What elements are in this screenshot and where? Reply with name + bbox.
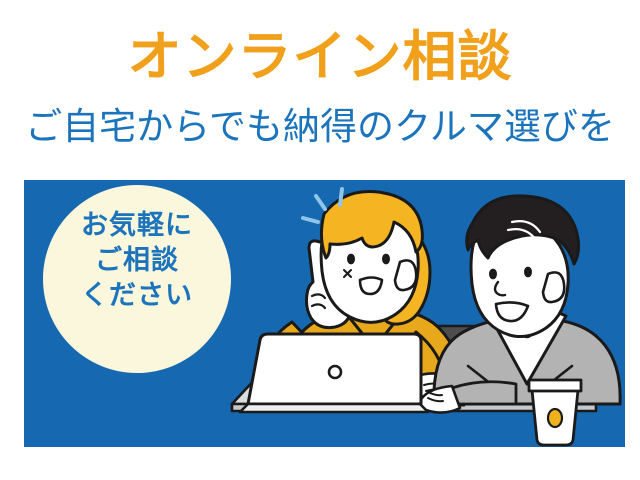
laptop-logo-icon: [329, 366, 341, 378]
man-eye-right: [524, 267, 532, 278]
laptop-icon: [240, 334, 428, 412]
badge-circle: [43, 185, 231, 373]
coffee-cup-icon: [529, 380, 581, 445]
banner-image: オンライン相談 ご自宅からでも納得のクルマ選びを: [0, 0, 640, 480]
man-eye-left: [489, 269, 497, 280]
woman-eye-right: [382, 254, 390, 265]
coffee-cup-logo-icon: [548, 409, 562, 427]
page-title: オンライン相談: [0, 26, 640, 88]
woman-eye-left: [347, 254, 355, 265]
page-subtitle: ご自宅からでも納得のクルマ選びを: [0, 104, 640, 150]
illustration-panel: お気軽に ご相談 ください: [24, 180, 625, 447]
illustration-svg: [24, 180, 625, 447]
